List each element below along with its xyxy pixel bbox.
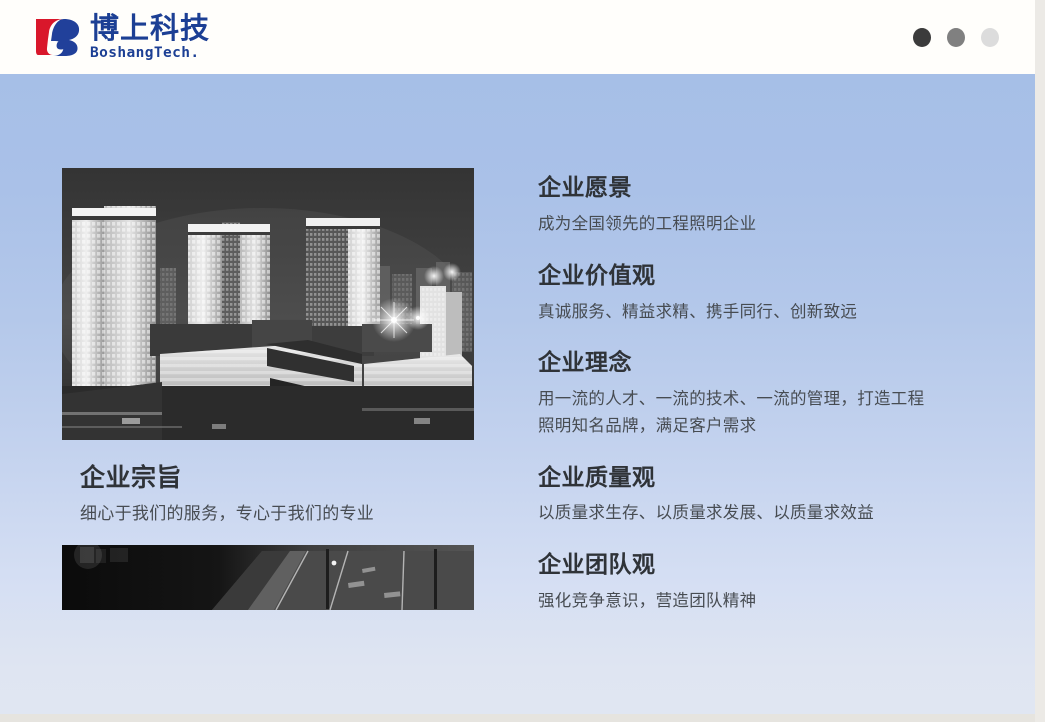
section-values-title: 企业价值观: [538, 262, 938, 292]
site-logo[interactable]: 博上科技 BoshangTech.: [34, 10, 210, 64]
content-stage: 企业宗旨 细心于我们的服务，专心于我们的专业: [0, 74, 1035, 714]
pager-dot-3[interactable]: [981, 28, 999, 47]
logo-chinese-name: 博上科技: [90, 13, 210, 43]
logo-english-name: BoshangTech.: [90, 46, 210, 61]
left-column: 企业宗旨 细心于我们的服务，专心于我们的专业: [62, 168, 474, 610]
boshang-b-logo-icon: [34, 15, 82, 59]
pager-dot-1[interactable]: [913, 28, 931, 47]
section-vision-body: 成为全国领先的工程照明企业: [538, 211, 938, 238]
logo-wordmark: 博上科技 BoshangTech.: [90, 13, 210, 61]
section-values-body: 真诚服务、精益求精、携手同行、创新致远: [538, 299, 938, 326]
section-philosophy: 企业理念 用一流的人才、一流的技术、一流的管理，打造工程照明知名品牌，满足客户需…: [538, 349, 938, 439]
right-column: 企业愿景 成为全国领先的工程照明企业 企业价值观 真诚服务、精益求精、携手同行、…: [538, 174, 938, 615]
section-team-body: 强化竞争意识，营造团队精神: [538, 588, 938, 615]
section-team: 企业团队观 强化竞争意识，营造团队精神: [538, 551, 938, 615]
vertical-scrollbar-gutter[interactable]: [1035, 0, 1045, 722]
window-bottom-strip: [0, 714, 1045, 722]
section-quality: 企业质量观 以质量求生存、以质量求发展、以质量求效益: [538, 464, 938, 528]
section-philosophy-title: 企业理念: [538, 349, 938, 379]
section-values: 企业价值观 真诚服务、精益求精、携手同行、创新致远: [538, 262, 938, 326]
city-night-skyline-photo: [62, 168, 474, 440]
pagination-dots[interactable]: [913, 28, 999, 47]
company-purpose-title: 企业宗旨: [80, 462, 474, 495]
section-quality-body: 以质量求生存、以质量求发展、以质量求效益: [538, 500, 938, 527]
pager-dot-2[interactable]: [947, 28, 965, 47]
company-purpose-body: 细心于我们的服务，专心于我们的专业: [80, 501, 474, 527]
section-philosophy-body: 用一流的人才、一流的技术、一流的管理，打造工程照明知名品牌，满足客户需求: [538, 386, 938, 439]
section-vision-title: 企业愿景: [538, 174, 938, 204]
section-vision: 企业愿景 成为全国领先的工程照明企业: [538, 174, 938, 238]
company-purpose-block: 企业宗旨 细心于我们的服务，专心于我们的专业: [62, 462, 474, 527]
section-quality-title: 企业质量观: [538, 464, 938, 494]
page-root: 博上科技 BoshangTech.: [0, 0, 1045, 722]
section-team-title: 企业团队观: [538, 551, 938, 581]
site-header: 博上科技 BoshangTech.: [0, 0, 1035, 74]
night-road-photo: [62, 545, 474, 610]
